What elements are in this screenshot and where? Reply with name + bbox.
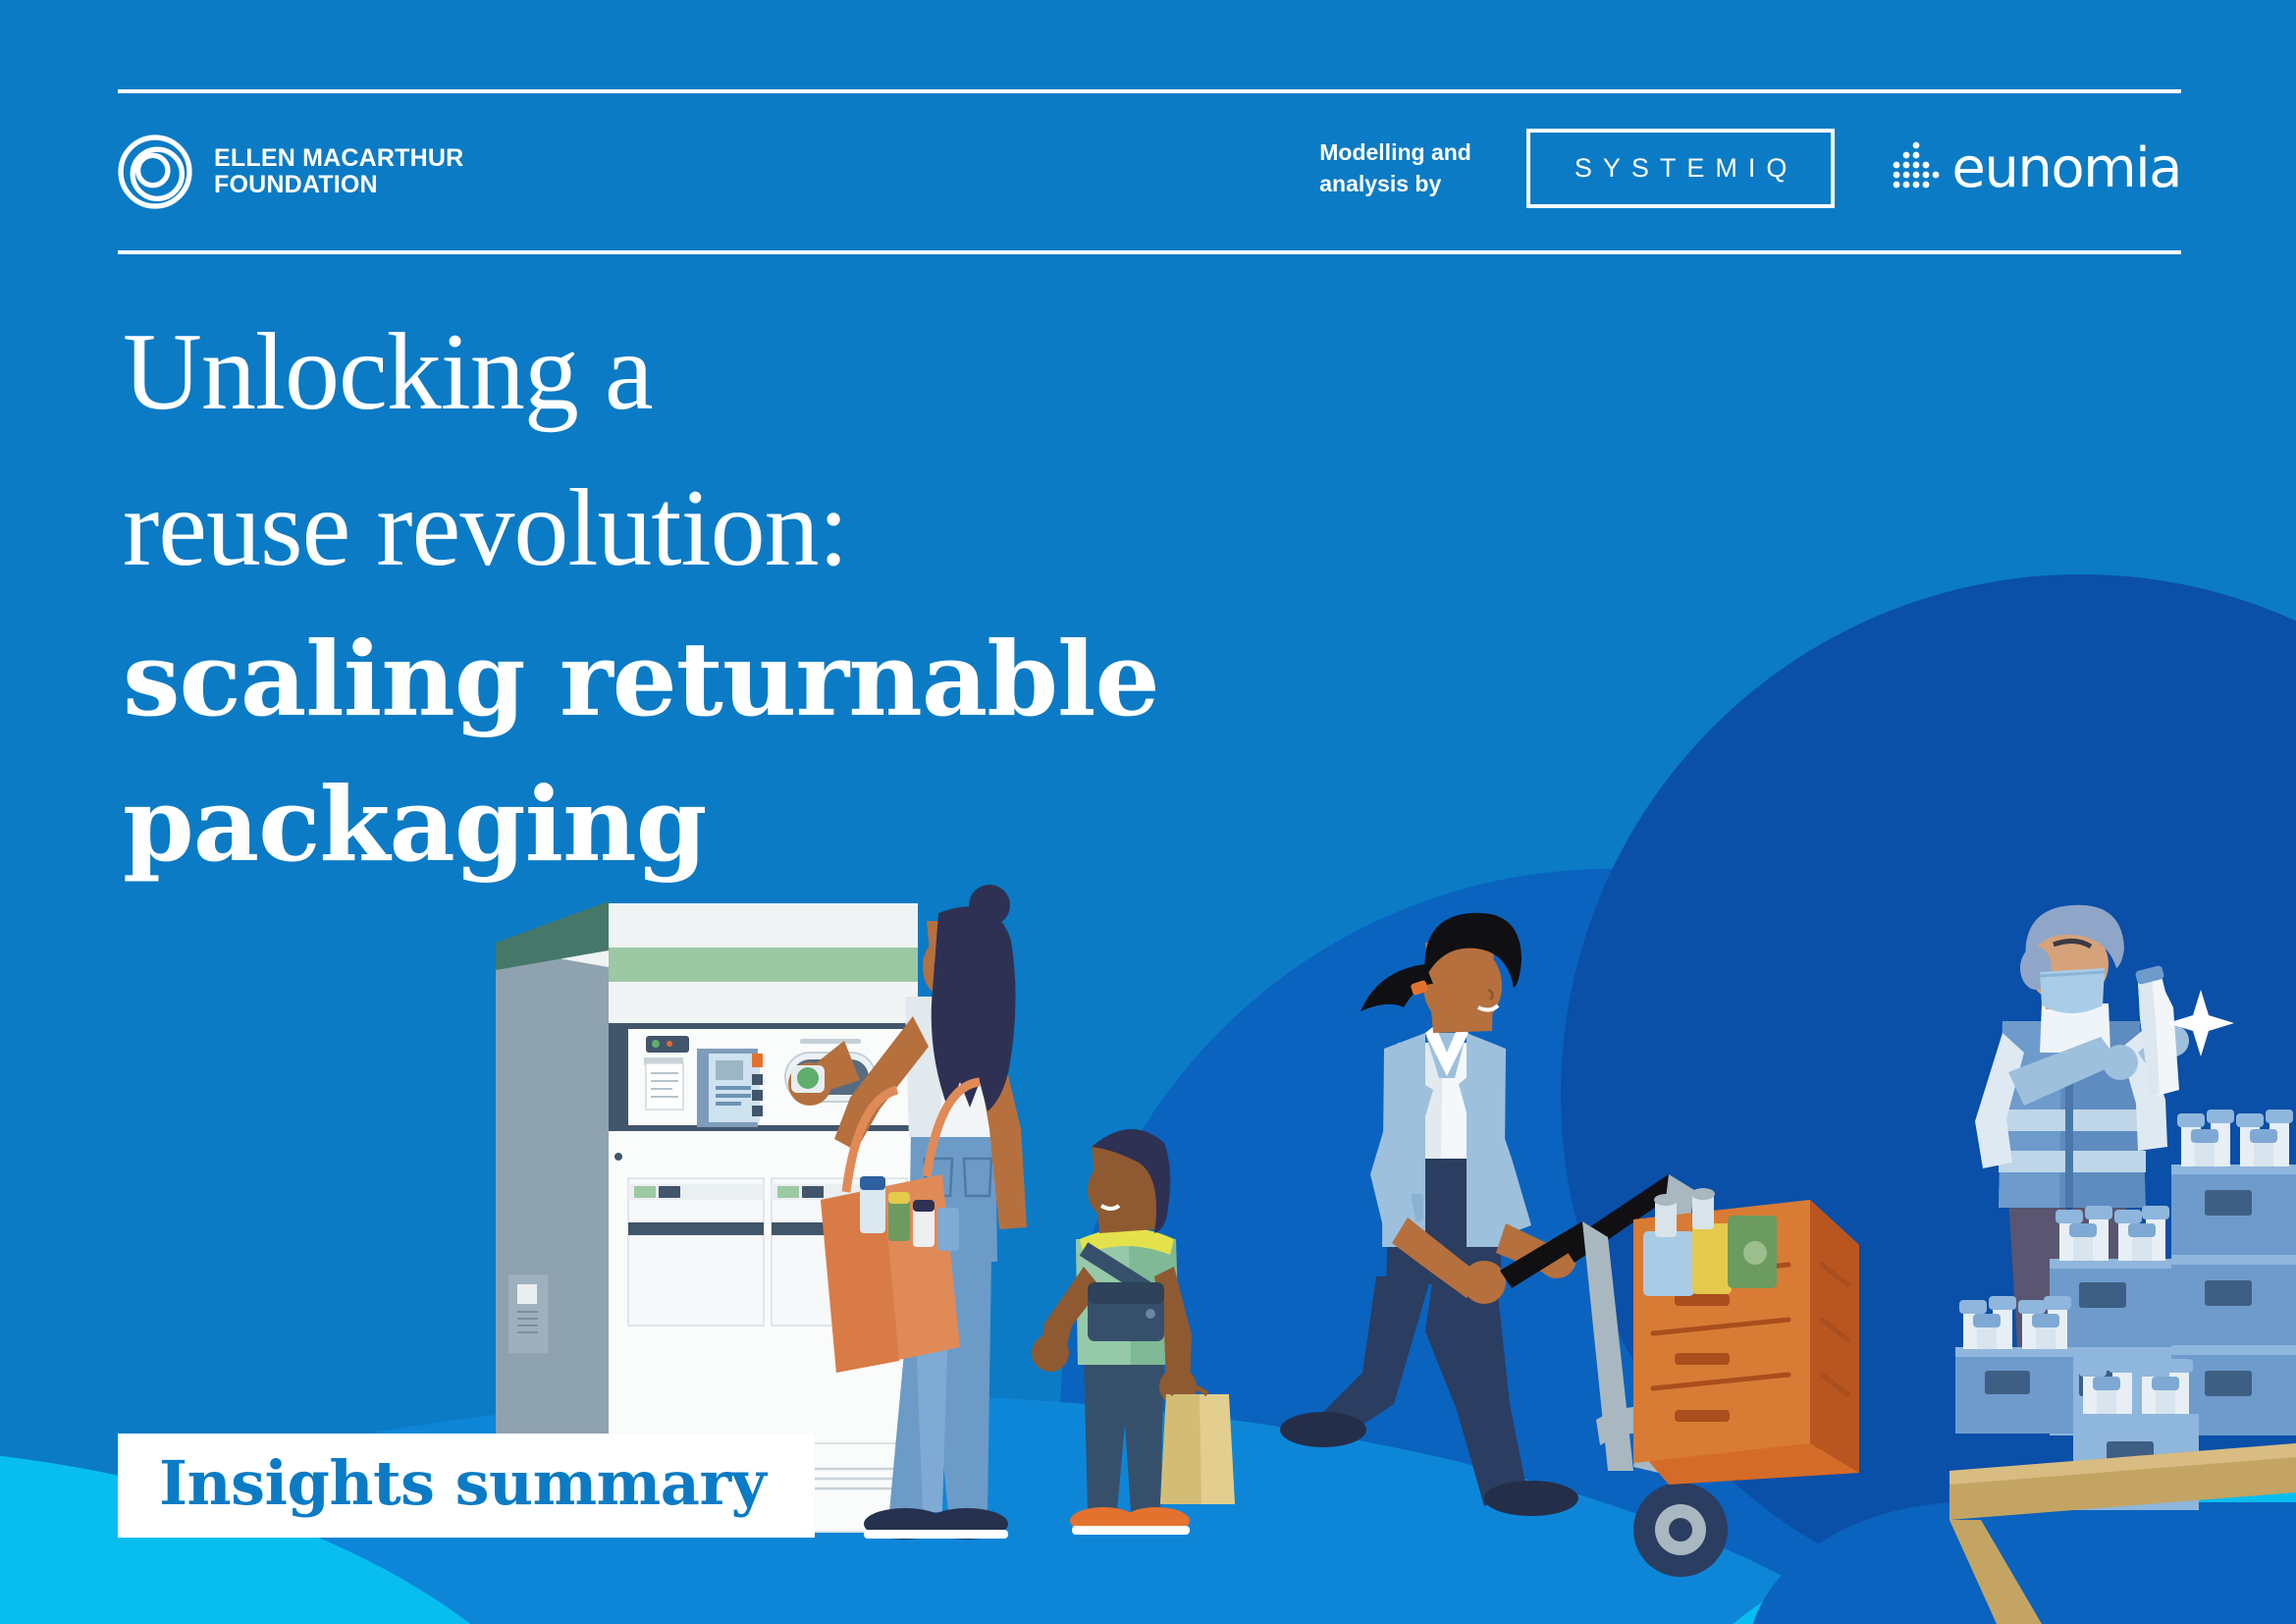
logistics-worker-illustration (1280, 913, 1859, 1577)
insights-summary-badge: Insights summary (118, 1434, 815, 1538)
insights-summary-label: Insights summary (159, 1447, 766, 1519)
child-illustration (1032, 1129, 1235, 1535)
cover-illustration (0, 0, 2296, 1624)
quality-control-worker-illustration (1949, 905, 2296, 1624)
report-cover: ELLEN MACARTHUR FOUNDATION Modelling and… (0, 0, 2296, 1624)
